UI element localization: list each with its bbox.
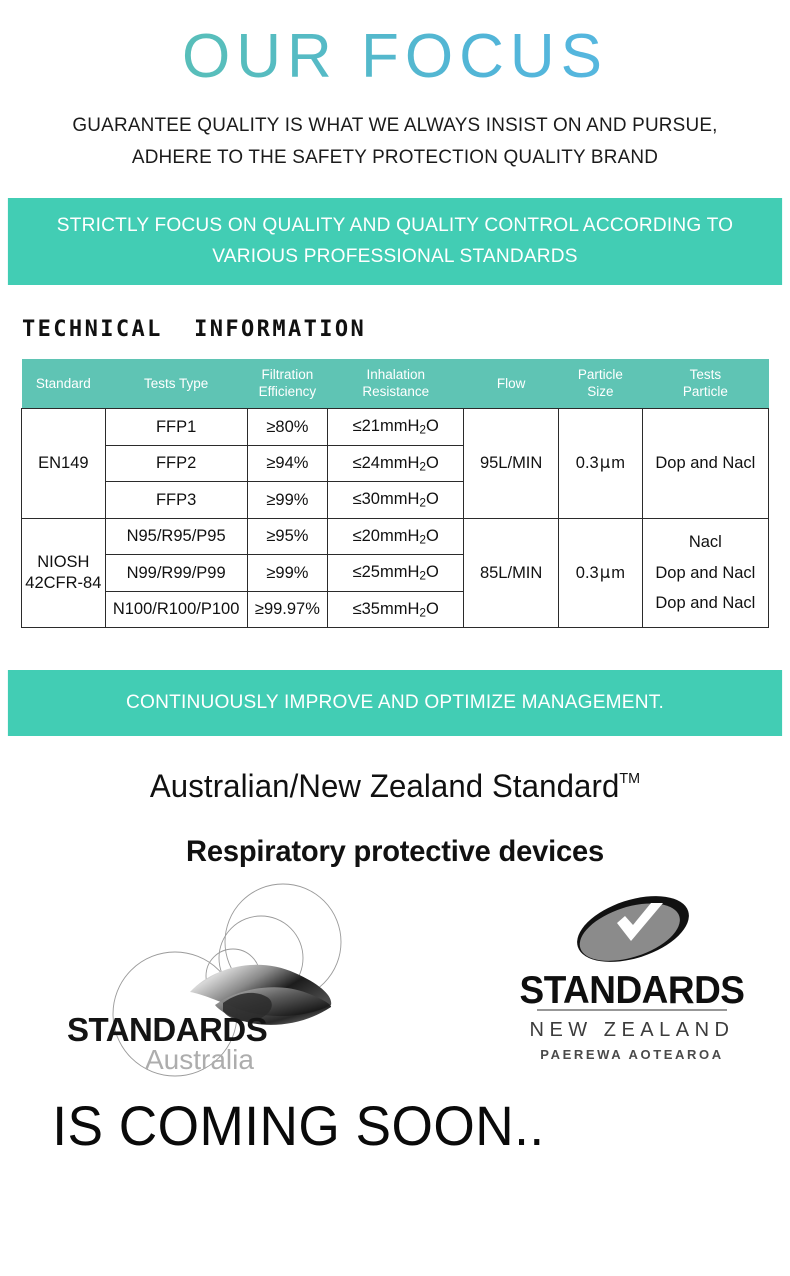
cell-filtration: ≥80% xyxy=(247,409,328,445)
table-row: EN149 FFP1 ≥80% ≤21mmH2O 95L/MIN 0.3μm D… xyxy=(22,409,769,445)
cell-tests-particle-niosh: Nacl Dop and Nacl Dop and Nacl xyxy=(642,518,768,627)
th-particle-line1: Particle xyxy=(578,367,623,382)
table-header-row: Standard Tests Type Filtration Efficienc… xyxy=(22,359,769,408)
th-inhalation-resistance: Inhalation Resistance xyxy=(328,359,464,408)
th-tests-particle-line2: Particle xyxy=(683,384,728,399)
page-title: OUR FOCUS xyxy=(0,0,790,88)
standards-new-zealand-logo: STANDARDS NEW ZEALAND PAEREWA AOTEAROA xyxy=(505,879,760,1079)
cell-inhalation: ≤35mmH2O xyxy=(328,591,464,627)
hero-subtitle: GUARANTEE QUALITY IS WHAT WE ALWAYS INSI… xyxy=(12,88,778,173)
cell-test-type: FFP2 xyxy=(105,445,247,481)
standards-nz-maori-word: PAEREWA AOTEAROA xyxy=(540,1047,723,1062)
standards-nz-subword: NEW ZEALAND xyxy=(530,1019,735,1041)
standards-nz-wordmark: STANDARDS xyxy=(520,969,745,1012)
cell-particle-size-en149: 0.3μm xyxy=(559,409,643,518)
technical-table-wrapper: Standard Tests Type Filtration Efficienc… xyxy=(0,342,790,628)
th-particle-line2: Size xyxy=(587,384,613,399)
standards-australia-logo-mark: STANDARDS Australia xyxy=(55,879,375,1079)
cell-flow-niosh: 85L/MIN xyxy=(464,518,559,627)
cell-particle-size-niosh: 0.3μm xyxy=(559,518,643,627)
cell-filtration: ≥99% xyxy=(247,555,328,591)
th-filtration-line2: Efficiency xyxy=(259,384,317,399)
th-standard: Standard xyxy=(22,359,106,408)
cell-test-type: FFP3 xyxy=(105,482,247,518)
cell-filtration: ≥99.97% xyxy=(247,591,328,627)
coming-soon-text: IS COMING SOON.. xyxy=(0,1079,751,1158)
cell-standard-niosh: NIOSH 42CFR-84 xyxy=(22,518,106,627)
cell-inhalation: ≤30mmH2O xyxy=(328,482,464,518)
cell-filtration: ≥94% xyxy=(247,445,328,481)
cell-standard-en149: EN149 xyxy=(22,409,106,518)
nz-ellipse-tick-icon xyxy=(569,883,697,975)
standards-new-zealand-logo-mark: STANDARDS NEW ZEALAND PAEREWA AOTEAROA xyxy=(505,879,760,1079)
standard-block: Australian/New Zealand StandardTM Respir… xyxy=(0,736,790,869)
th-flow: Flow xyxy=(464,359,559,408)
anz-standard-title: Australian/New Zealand StandardTM xyxy=(16,768,774,805)
th-tests-type: Tests Type xyxy=(105,359,247,408)
tests-particle-line2: Dop and Nacl xyxy=(645,558,766,589)
technical-information-table: Standard Tests Type Filtration Efficienc… xyxy=(21,359,769,628)
logo-row: STANDARDS Australia STANDARDS NEW ZEALAN… xyxy=(0,879,790,1079)
th-tests-type-label: Tests Type xyxy=(144,376,208,391)
th-filtration-efficiency: Filtration Efficiency xyxy=(247,359,328,408)
cell-tests-particle-en149: Dop and Nacl xyxy=(642,409,768,518)
cell-inhalation: ≤25mmH2O xyxy=(328,555,464,591)
anz-standard-title-text: Australian/New Zealand Standard xyxy=(150,768,620,804)
cell-flow-en149: 95L/MIN xyxy=(464,409,559,518)
th-standard-label: Standard xyxy=(36,376,91,391)
th-inhalation-line2: Resistance xyxy=(362,384,429,399)
cell-filtration: ≥95% xyxy=(247,518,328,554)
th-filtration-line1: Filtration xyxy=(262,367,314,382)
th-flow-label: Flow xyxy=(497,376,526,391)
table-row: NIOSH 42CFR-84 N95/R95/P95 ≥95% ≤20mmH2O… xyxy=(22,518,769,554)
cell-inhalation: ≤24mmH2O xyxy=(328,445,464,481)
trademark-icon: TM xyxy=(619,770,640,787)
standards-australia-subword: Australia xyxy=(145,1044,254,1075)
tests-particle-line3: Dop and Nacl xyxy=(645,588,766,619)
cell-standard-niosh-line1: NIOSH xyxy=(37,553,89,571)
improve-banner: CONTINUOUSLY IMPROVE AND OPTIMIZE MANAGE… xyxy=(8,670,782,736)
th-particle-size: Particle Size xyxy=(559,359,643,408)
standards-australia-logo: STANDARDS Australia xyxy=(55,879,375,1079)
cell-inhalation: ≤21mmH2O xyxy=(328,409,464,445)
cell-test-type: N95/R95/P95 xyxy=(105,518,247,554)
quality-banner: STRICTLY FOCUS ON QUALITY AND QUALITY CO… xyxy=(8,198,782,285)
cell-filtration: ≥99% xyxy=(247,482,328,518)
th-tests-particle-line1: Tests xyxy=(690,367,722,382)
cell-test-type: N99/R99/P99 xyxy=(105,555,247,591)
cell-inhalation: ≤20mmH2O xyxy=(328,518,464,554)
th-inhalation-line1: Inhalation xyxy=(366,367,425,382)
standards-australia-wordmark: STANDARDS xyxy=(67,1011,267,1048)
tests-particle-line1: Nacl xyxy=(645,527,766,558)
anz-standard-subtitle: Respiratory protective devices xyxy=(12,835,778,869)
cell-test-type: FFP1 xyxy=(105,409,247,445)
cell-standard-niosh-line2: 42CFR-84 xyxy=(25,574,101,592)
cell-test-type: N100/R100/P100 xyxy=(105,591,247,627)
technical-information-heading: TECHNICAL INFORMATION xyxy=(0,285,790,342)
th-tests-particle: Tests Particle xyxy=(642,359,768,408)
